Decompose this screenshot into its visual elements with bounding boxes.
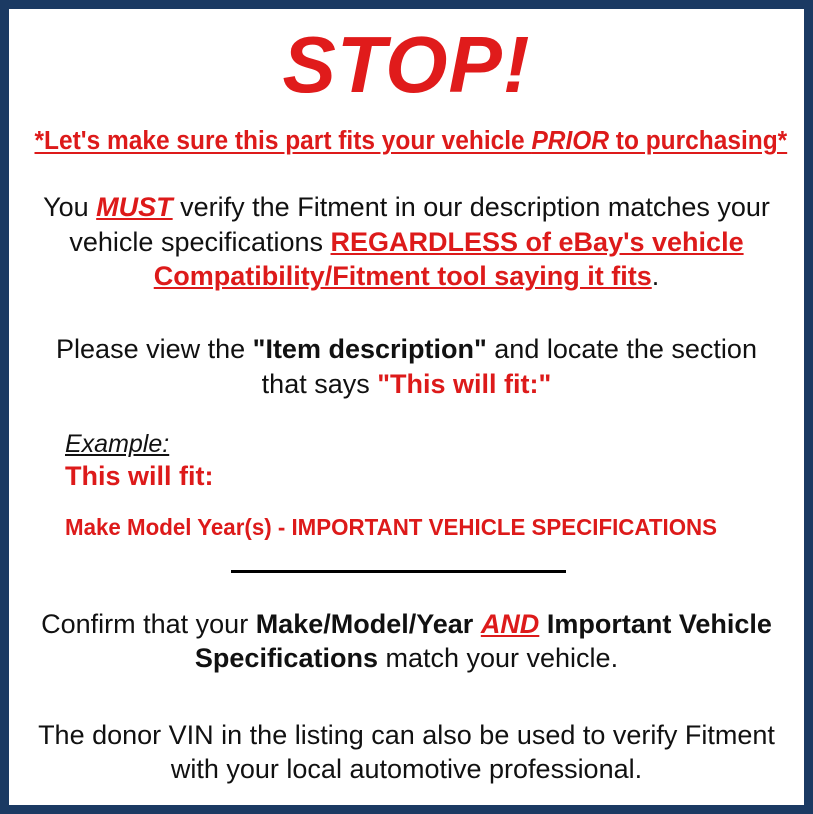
paragraph-verify-fitment: You MUST verify the Fitment in our descr…: [19, 190, 794, 294]
example-label: Example:: [65, 431, 169, 459]
confirm-emphasis-make-model-year: Make/Model/Year: [256, 609, 474, 639]
paragraph-view-description: Please view the "Item description" and l…: [19, 332, 794, 401]
confirm-emphasis-and: AND: [481, 609, 540, 639]
view-text-part1: Please view the: [56, 334, 253, 364]
verify-text-part3: .: [652, 261, 660, 291]
subheadline-lead: *Let's make sure this part fits your veh…: [35, 127, 532, 155]
verify-text-part1: You: [43, 192, 96, 222]
divider-wrap: [19, 567, 794, 577]
stop-headline: STOP!: [19, 25, 794, 105]
confirm-text-part4: match your vehicle.: [378, 643, 618, 673]
fitment-notice-card: STOP! *Let's make sure this part fits yo…: [0, 0, 813, 814]
subheadline-emphasis-prior: PRIOR: [531, 127, 609, 155]
view-emphasis-this-will-fit: "This will fit:": [377, 369, 551, 399]
subheadline-tail: to purchasing*: [609, 127, 787, 155]
confirm-text-part1: Confirm that your: [41, 609, 256, 639]
view-emphasis-item-description: "Item description": [253, 334, 487, 364]
example-block: Example: This will fit: Make Model Year(…: [19, 431, 794, 541]
confirm-text-part2: [473, 609, 481, 639]
confirm-text-part3: [539, 609, 547, 639]
subheadline: *Let's make sure this part fits your veh…: [35, 127, 779, 156]
horizontal-divider: [231, 570, 566, 573]
paragraph-confirm-match: Confirm that your Make/Model/Year AND Im…: [19, 607, 794, 676]
example-spec-line: Make Model Year(s) - IMPORTANT VEHICLE S…: [65, 514, 772, 541]
notice-content: STOP! *Let's make sure this part fits yo…: [9, 25, 804, 814]
example-label-row: Example:: [65, 431, 794, 459]
example-fit-heading: This will fit:: [65, 461, 794, 492]
verify-emphasis-must: MUST: [96, 192, 173, 222]
paragraph-donor-vin: The donor VIN in the listing can also be…: [19, 718, 794, 787]
